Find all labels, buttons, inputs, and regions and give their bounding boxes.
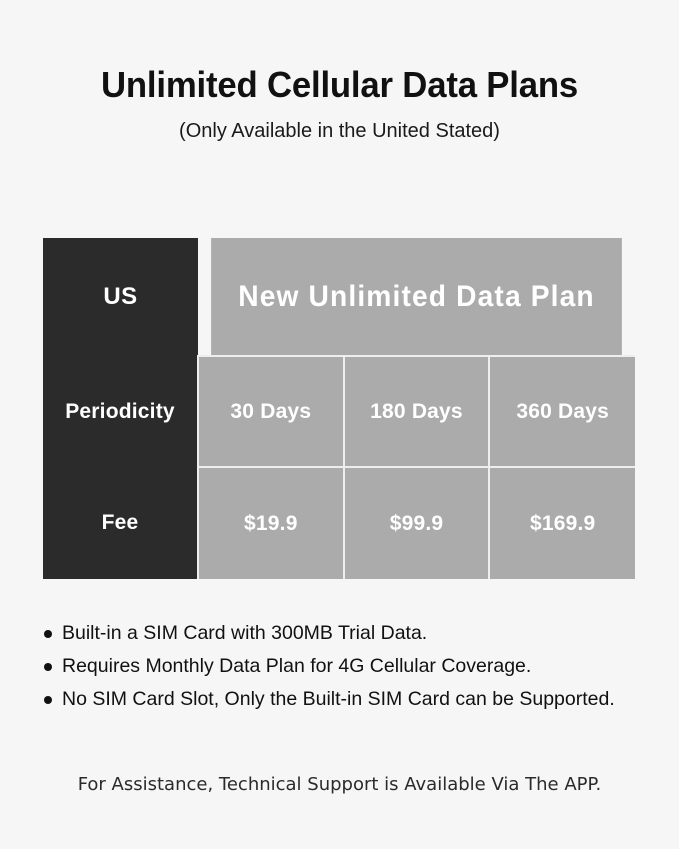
cell-fee-2: $99.9 bbox=[344, 467, 490, 579]
table-row: Periodicity 30 Days 180 Days 360 Days bbox=[43, 356, 635, 467]
cell-fee-3: $169.9 bbox=[489, 467, 635, 579]
region-label-cell: US bbox=[43, 238, 198, 356]
cell-periodicity-1: 30 Days bbox=[198, 356, 344, 467]
cell-fee-1: $19.9 bbox=[198, 467, 344, 579]
list-item: No SIM Card Slot, Only the Built-in SIM … bbox=[43, 684, 643, 715]
assistance-note: For Assistance, Technical Support is Ava… bbox=[0, 773, 679, 797]
list-item: Requires Monthly Data Plan for 4G Cellul… bbox=[43, 651, 643, 682]
table-row: Fee $19.9 $99.9 $169.9 bbox=[43, 467, 635, 579]
notes-list: Built-in a SIM Card with 300MB Trial Dat… bbox=[43, 618, 643, 717]
bullet-icon bbox=[44, 630, 52, 638]
table-row-header: US New Unlimited Data Plan bbox=[43, 238, 635, 356]
list-item: Built-in a SIM Card with 300MB Trial Dat… bbox=[43, 618, 643, 649]
cell-periodicity-2: 180 Days bbox=[344, 356, 490, 467]
plan-header-cell: New Unlimited Data Plan bbox=[211, 238, 622, 356]
row-label-periodicity: Periodicity bbox=[43, 356, 198, 467]
list-item-text: Built-in a SIM Card with 300MB Trial Dat… bbox=[62, 622, 427, 644]
list-item-text: No SIM Card Slot, Only the Built-in SIM … bbox=[62, 688, 615, 710]
bullet-icon bbox=[44, 696, 52, 704]
list-item-text: Requires Monthly Data Plan for 4G Cellul… bbox=[62, 655, 531, 677]
page-header: Unlimited Cellular Data Plans (Only Avai… bbox=[0, 64, 679, 144]
page-subtitle: (Only Available in the United Stated) bbox=[0, 118, 679, 144]
row-label-fee: Fee bbox=[43, 467, 198, 579]
data-plans-table: US New Unlimited Data Plan Periodicity 3… bbox=[43, 238, 635, 579]
cell-periodicity-3: 360 Days bbox=[489, 356, 635, 467]
page-title: Unlimited Cellular Data Plans bbox=[12, 64, 667, 106]
bullet-icon bbox=[44, 663, 52, 671]
